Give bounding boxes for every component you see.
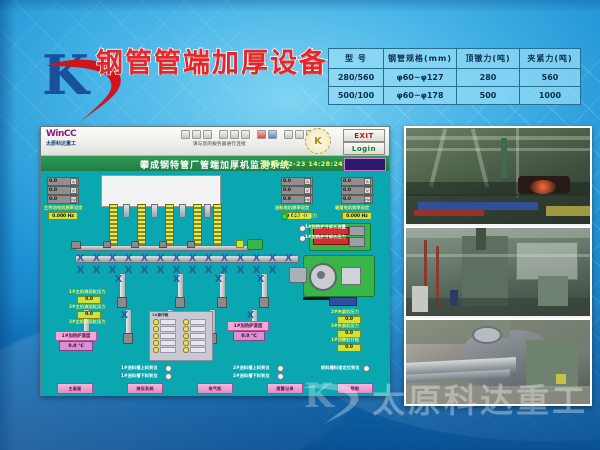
operator-panel-title: 1#操作箱 [152, 313, 168, 318]
label-sensor-2: 2#主机液压缸压力 [69, 304, 106, 310]
wincc-logo: WinCC 太原科达重工 [46, 129, 76, 147]
run-icon[interactable] [268, 130, 277, 139]
toolbar-separator [279, 131, 282, 138]
cell-clamp-force: 560 [520, 69, 581, 87]
nav-button-electrical[interactable]: 电气柜 [197, 383, 233, 394]
status-label-4: 2#送料槽下料到位 [233, 373, 270, 379]
meter-midright-1: 0.0 A [341, 177, 373, 186]
panel-led [153, 326, 159, 332]
status-label-5: 前料槽料道定位到位 [321, 365, 360, 371]
watermark-mark: K [304, 376, 329, 416]
meter-value: 0.0 [49, 188, 57, 193]
press-ram-3 [179, 204, 186, 218]
nav-button-main[interactable]: 主画面 [57, 383, 93, 394]
pump-hub [317, 271, 325, 279]
cell-upset-force: 500 [457, 87, 520, 105]
hmi-title-bar: 攀成钢特管厂管端加厚机监测系统 2009-02-23 14:28:24 [41, 156, 389, 171]
rail-block-1 [103, 241, 111, 248]
zoom-icon[interactable] [295, 130, 304, 139]
th-clamp-force: 夹紧力(吨) [520, 49, 581, 69]
meter-unit: V [70, 187, 77, 194]
cyl-base-6 [123, 333, 133, 344]
connect-icon[interactable] [284, 130, 293, 139]
meter-value: 0.0 [49, 197, 57, 202]
meter-value: 0.0 [283, 179, 291, 184]
cyl-base-2 [175, 297, 185, 308]
panel-tag[interactable] [160, 319, 176, 325]
cyl-base-4 [259, 297, 269, 308]
panel-tag[interactable] [160, 340, 176, 346]
th-model: 型 号 [329, 49, 384, 69]
panel-tag[interactable] [160, 333, 176, 339]
roller-lower-8 [189, 266, 196, 273]
status-led-5 [363, 365, 370, 372]
rail-block-3 [159, 241, 167, 248]
meter-left-3: 0.0 Hz [47, 195, 79, 204]
roller-table-rail [75, 255, 299, 263]
panel-led [183, 333, 189, 339]
press-machine-photo [404, 226, 592, 318]
status-label-1: 1#送料槽上料到位 [121, 365, 158, 371]
cell-model: 280/560 [329, 69, 384, 87]
cell-pipe-size: φ60~φ178 [384, 87, 457, 105]
table-header-row: 型 号 钢管规格(mm) 顶镦力(吨) 夹紧力(吨) [329, 49, 581, 69]
meter-unit: Hz [364, 196, 371, 203]
roller-lower-9 [205, 266, 212, 273]
edge-shadow-left [0, 0, 16, 450]
led-running [281, 213, 288, 220]
copy-icon[interactable] [230, 130, 239, 139]
roller-lower-7 [173, 266, 180, 273]
watermark-text: 太原科达重工 [372, 374, 588, 422]
panel-led [183, 319, 189, 325]
nav-button-alarm[interactable]: 报警记录 [267, 383, 303, 394]
roller-lower-4 [125, 266, 132, 273]
cell-clamp-force: 1000 [520, 87, 581, 105]
label-sensor-7: 2#夹紧缸压力 [331, 309, 359, 315]
meter-value: 0.0 [343, 179, 351, 184]
roller-lower-3 [109, 266, 116, 273]
wincc-sub-label: 太原科达重工 [46, 140, 76, 147]
roller-lower-1 [77, 266, 84, 273]
roller-lower-11 [237, 266, 244, 273]
th-upset-force: 顶镦力(吨) [457, 49, 520, 69]
label-sensor-1: 1#主机液压缸压力 [69, 289, 106, 295]
panel-tag[interactable] [190, 333, 206, 339]
status-label-2: 1#送料槽下料到位 [121, 373, 158, 379]
meter-unit: Hz [304, 196, 311, 203]
meter-unit: A [70, 178, 77, 185]
hmi-toolbar-icons[interactable] [181, 130, 315, 139]
panel-led [183, 326, 189, 332]
label-sensor-3: 3#主机液压缸压力 [69, 319, 106, 325]
login-button[interactable]: Login [343, 142, 385, 155]
meter-unit: A [364, 178, 371, 185]
panel-tag[interactable] [160, 326, 176, 332]
meter-unit: A [304, 178, 311, 185]
roller-lower-2 [93, 266, 100, 273]
temperature2-label: 1#加热炉温度 [227, 321, 269, 331]
panel-led [153, 319, 159, 325]
toolbar-separator [252, 131, 255, 138]
rail-end-left [71, 241, 81, 249]
furnace-line-photo [404, 126, 592, 226]
solenoid-valve [329, 297, 357, 306]
roller-lower-12 [253, 266, 260, 273]
panel-tag[interactable] [190, 340, 206, 346]
hmi-toolbar-hint: 请与您的服务器进行连接 [193, 141, 246, 147]
temperature2-value: 0.0 ℃ [233, 331, 265, 341]
edge-shadow-top [0, 0, 600, 12]
roller-lower-5 [141, 266, 148, 273]
meter-midleft-2: 0.0 V [281, 186, 313, 195]
paste-icon[interactable] [241, 130, 250, 139]
pipe-link [303, 297, 329, 300]
coupling-block [289, 267, 307, 283]
cyl-base-3 [217, 297, 227, 308]
temperature-label: 1#加热炉温度 [55, 331, 97, 341]
label-sensor-8: 3#夹紧缸压力 [331, 323, 359, 329]
panel-tag[interactable] [190, 326, 206, 332]
operator-panel[interactable]: 1#操作箱 [149, 311, 213, 361]
meter-midright-3: 0.0 Hz [341, 195, 373, 204]
wincc-label: WinCC [46, 129, 76, 139]
value-sensor-1: 0.0 [77, 296, 101, 304]
press-ram-4 [204, 204, 211, 218]
hmi-logo-letter: K [306, 129, 330, 153]
label-sensor-4: 1#加热炉冷却水流量 [305, 224, 346, 230]
panel-led [153, 340, 159, 346]
meter-value: 0.0 [49, 179, 57, 184]
meter-left-2: 0.0 V [47, 186, 79, 195]
roller-lower-6 [157, 266, 164, 273]
status-label-3: 2#送料槽上料到位 [233, 365, 270, 371]
panel-tag[interactable] [160, 347, 176, 353]
table-row: 280/560 φ60~φ127 280 560 [329, 69, 581, 87]
valve-head-2 [349, 237, 365, 247]
meter-value: 0.0 [283, 188, 291, 193]
field-left-freq[interactable]: 0.000 Hz [48, 212, 78, 220]
rail-sensor [236, 240, 244, 248]
meter-unit: Hz [70, 196, 77, 203]
press-ram-2 [151, 204, 158, 218]
meter-midleft-1: 0.0 A [281, 177, 313, 186]
open-icon[interactable] [192, 130, 201, 139]
stop-icon[interactable] [257, 130, 266, 139]
photo-overlay [406, 228, 590, 316]
press-ram-1 [123, 204, 130, 218]
meter-midleft-3: 0.0 Hz [281, 195, 313, 204]
watermark: K 太原科达重工 [300, 372, 592, 424]
label-sensor-5: 1#加热炉冷却水压力 [305, 234, 346, 240]
drive-motor [247, 239, 263, 250]
motor-body [341, 267, 361, 285]
save-icon[interactable] [203, 130, 212, 139]
exit-button[interactable]: EXIT [343, 129, 385, 142]
status-led-1 [165, 365, 172, 372]
label-midright-meter: 辊道电机频率设定 [335, 205, 369, 211]
field-midright-freq[interactable]: 0.000 Hz [342, 212, 372, 220]
new-icon[interactable] [181, 130, 190, 139]
label-midleft-meter: 送料电机频率设定 [275, 205, 309, 211]
photo-overlay [406, 128, 590, 224]
roller-lower-13 [269, 266, 276, 273]
status-led-4 [277, 373, 284, 380]
hmi-mimic-diagram[interactable]: 0.0 A 0.0 V 0.0 Hz 主传动电机频率设定 0.000 Hz 0.… [41, 171, 389, 396]
panel-tag[interactable] [190, 319, 206, 325]
meter-value: 0.0 [283, 197, 291, 202]
panel-led [153, 347, 159, 353]
label-left-meter: 主传动电机频率设定 [44, 205, 83, 211]
hmi-title-indicator [344, 158, 386, 171]
status-led-3 [277, 365, 284, 372]
value-sensor-2: 0.0 [77, 311, 101, 319]
hmi-toolbar: WinCC 太原科达重工 请与您的服务器进行连接 [41, 127, 389, 156]
nav-button-hydraulic[interactable]: 液压系统 [127, 383, 163, 394]
press-column-5 [213, 204, 222, 248]
cell-model: 500/100 [329, 87, 384, 105]
cell-upset-force: 280 [457, 69, 520, 87]
status-led-2 [165, 373, 172, 380]
label-sensor-6: 1#夹紧缸压力 [289, 213, 317, 219]
valve-head-1 [349, 226, 365, 236]
panel-led [153, 333, 159, 339]
toolbar-separator [214, 131, 217, 138]
meter-left-1: 0.0 A [47, 177, 79, 186]
cell-pipe-size: φ60~φ127 [384, 69, 457, 87]
table-row: 500/100 φ60~φ178 500 1000 [329, 87, 581, 105]
temperature-value: 0.0 ℃ [59, 341, 93, 351]
meter-midright-2: 0.0 V [341, 186, 373, 195]
hmi-screenshot-panel: WinCC 太原科达重工 请与您的服务器进行连接 [40, 126, 390, 396]
panel-led [183, 340, 189, 346]
page-title: 钢管管端加厚设备 [96, 48, 328, 79]
panel-tag[interactable] [190, 347, 206, 353]
meter-value: 0.0 [343, 197, 351, 202]
meter-unit: V [364, 187, 371, 194]
hmi-datetime: 2009-02-23 14:28:24 [261, 160, 343, 168]
press-crossbeam [101, 175, 221, 207]
value-sensor-9: 0.0 [337, 344, 361, 352]
panel-led [183, 347, 189, 353]
cyl-base-1 [117, 297, 127, 308]
cut-icon[interactable] [219, 130, 228, 139]
rail-block-4 [187, 241, 195, 248]
meter-unit: V [304, 187, 311, 194]
meter-value: 0.0 [343, 188, 351, 193]
rail-block-2 [131, 241, 139, 248]
roller-lower-10 [221, 266, 228, 273]
th-pipe-size: 钢管规格(mm) [384, 49, 457, 69]
spec-table: 型 号 钢管规格(mm) 顶镦力(吨) 夹紧力(吨) 280/560 φ60~φ… [328, 48, 581, 105]
hmi-round-logo: K [305, 128, 331, 154]
label-sensor-9: 1#顶镦缸行程 [331, 337, 359, 343]
slide-canvas: K 钢管管端加厚设备 型 号 钢管规格(mm) 顶镦力(吨) 夹紧力(吨) 28… [0, 0, 600, 450]
